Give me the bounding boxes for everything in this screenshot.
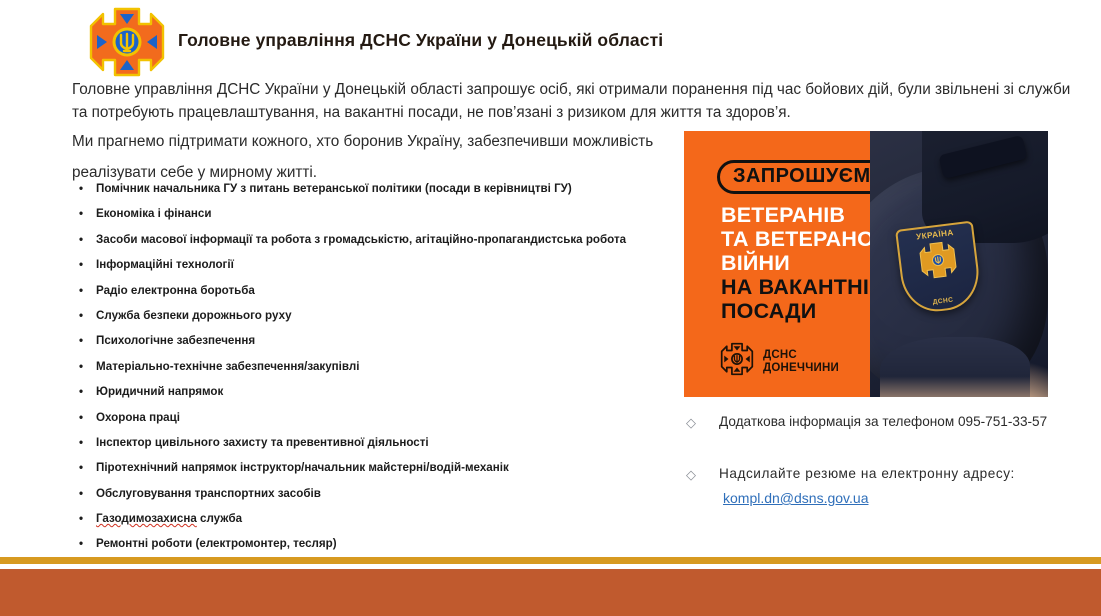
list-item: •Психологічне забезпечення [74, 328, 684, 353]
bullet-icon: • [79, 481, 83, 506]
list-item: •Інформаційні технології [74, 252, 684, 277]
bullet-icon: • [79, 354, 83, 379]
poster-logo-line1: ДСНС [763, 349, 797, 361]
list-item: •Економіка і фінанси [74, 201, 684, 226]
page-header: Головне управління ДСНС України у Донець… [0, 0, 1101, 74]
bullet-icon: • [79, 303, 83, 328]
poster-headline-line4: НА ВАКАНТНІ [721, 275, 887, 299]
list-item: •Інспектор цивільного захисту та превент… [74, 430, 684, 455]
page-title: Головне управління ДСНС України у Донець… [178, 30, 663, 51]
list-item-label: Матеріально-технічне забезпечення/закупі… [96, 360, 359, 373]
list-item-label: Юридичний напрямок [96, 385, 223, 398]
contact-phone-row: ◇ Додаткова інформація за телефоном 095-… [683, 412, 1083, 432]
bullet-icon: • [79, 278, 83, 303]
poster-headline-line5: ПОСАДИ [721, 299, 887, 323]
officer-photo: УКРАЇНА ДСНС [870, 131, 1048, 397]
list-item: •Служба безпеки дорожнього руху [74, 303, 684, 328]
bullet-icon: • [79, 506, 83, 531]
bullet-icon: • [79, 328, 83, 353]
dsns-cross-emblem [88, 6, 166, 78]
list-item-label: Інспектор цивільного захисту та превенти… [96, 436, 429, 449]
bullet-icon: • [79, 455, 83, 480]
diamond-bullet-icon: ◇ [686, 465, 696, 485]
list-item-label: Радіо електронна боротьба [96, 284, 255, 297]
bullet-icon: • [79, 252, 83, 277]
bullet-icon: • [79, 405, 83, 430]
list-item-misspelled: •Газодимозахисна служба [74, 506, 684, 531]
footer-gold-bar [0, 557, 1101, 564]
bullet-icon: • [79, 176, 83, 201]
patch-bottom-label: ДСНС [932, 297, 953, 306]
patch-cross-icon [916, 238, 961, 288]
bullet-icon: • [79, 430, 83, 455]
list-item: •Піротехнічний напрямок інструктор/начал… [74, 455, 684, 480]
list-item: •Радіо електронна боротьба [74, 278, 684, 303]
list-item-label: Обслуговування транспортних засобів [96, 487, 321, 500]
list-item-label: Охорона праці [96, 411, 180, 424]
list-item-label: Помічник начальника ГУ з питань ветеранс… [96, 182, 572, 195]
poster-headline-line1: ВЕТЕРАНІВ [721, 203, 887, 227]
poster-headline-line2: ТА ВЕТЕРАНОК [721, 227, 887, 251]
list-item: •Юридичний напрямок [74, 379, 684, 404]
list-item-label: Інформаційні технології [96, 258, 234, 271]
bullet-icon: • [79, 201, 83, 226]
bullet-icon: • [79, 379, 83, 404]
contact-resume-text: Надсилайте резюме на електронну адресу: [719, 464, 1083, 484]
list-item-label: Служба безпеки дорожнього руху [96, 309, 292, 322]
list-item-label: Психологічне забезпечення [96, 334, 255, 347]
dsns-cross-icon [720, 342, 754, 381]
diamond-bullet-icon: ◇ [686, 413, 696, 433]
list-item-label: Ремонтні роботи (електромонтер, тесляр) [96, 537, 337, 550]
poster-logo-text: ДСНС ДОНЕЧЧИНИ [763, 349, 839, 374]
bullet-icon: • [79, 227, 83, 252]
bullet-icon: • [79, 531, 83, 556]
list-item-label: Економіка і фінанси [96, 207, 212, 220]
list-item: •Засоби масової інформації та робота з г… [74, 227, 684, 252]
email-link[interactable]: kompl.dn@dsns.gov.ua [723, 490, 868, 506]
vacancy-list: •Помічник начальника ГУ з питань ветеран… [74, 176, 684, 582]
contact-block: ◇ Додаткова інформація за телефоном 095-… [683, 412, 1083, 508]
list-item: • Обслуговування транспортних засобів [74, 481, 684, 506]
list-item: •Матеріально-технічне забезпечення/закуп… [74, 354, 684, 379]
list-item-label: Піротехнічний напрямок інструктор/началь… [96, 461, 509, 474]
misspelled-word: Газодимозахисна [96, 512, 197, 525]
list-item-label: Засоби масової інформації та робота з гр… [96, 233, 626, 246]
intro-paragraph-1: Головне управління ДСНС України у Донець… [72, 78, 1072, 124]
contact-email-row: ◇ Надсилайте резюме на електронну адресу… [683, 464, 1083, 508]
list-item: •Помічник начальника ГУ з питань ветеран… [74, 176, 684, 201]
photo-arm [880, 337, 1030, 397]
list-item: •Охорона праці [74, 405, 684, 430]
poster-headline-line3: ВІЙНИ [721, 251, 887, 275]
list-item: •Ремонтні роботи (електромонтер, тесляр) [74, 531, 684, 556]
recruitment-poster: ЗАПРОШУЄМО ВЕТЕРАНІВ ТА ВЕТЕРАНОК ВІЙНИ … [684, 131, 1048, 397]
contact-phone-text: Додаткова інформація за телефоном 095-75… [719, 412, 1083, 432]
poster-logo: ДСНС ДОНЕЧЧИНИ [720, 342, 839, 381]
list-item-label-rest: служба [197, 512, 242, 525]
footer-brick-bar [0, 569, 1101, 616]
poster-logo-line2: ДОНЕЧЧИНИ [763, 362, 839, 374]
poster-headline: ВЕТЕРАНІВ ТА ВЕТЕРАНОК ВІЙНИ НА ВАКАНТНІ… [721, 203, 887, 323]
